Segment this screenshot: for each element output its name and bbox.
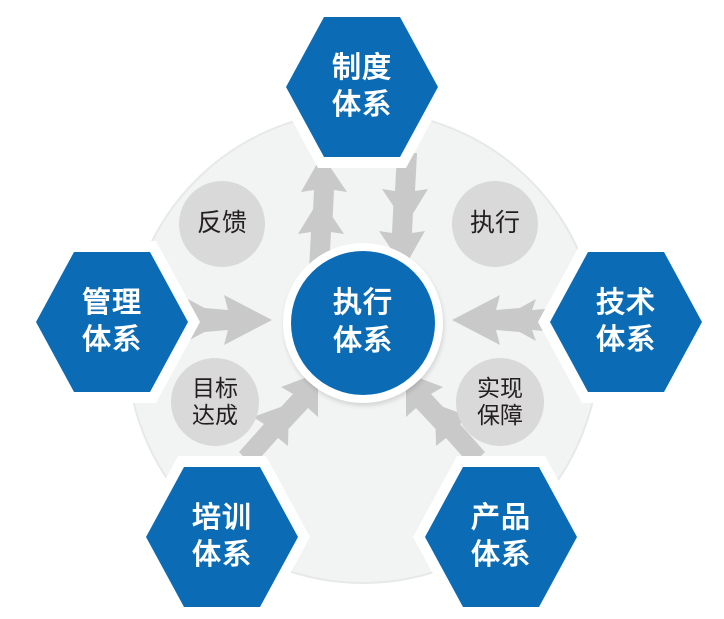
hexagon-right-label-line-2: 体系	[596, 322, 656, 359]
hexagon-left-label-line-1: 管理	[82, 285, 142, 322]
gray-circle-implementation-line-2: 保障	[477, 402, 523, 429]
hexagon-bottom-right-label-line-2: 体系	[471, 537, 531, 574]
hexagon-bottom-left-label-line-2: 体系	[192, 537, 252, 574]
hexagon-right[interactable]: 技术 体系	[538, 241, 714, 403]
hexagon-bottom-left[interactable]: 培训 体系	[134, 456, 310, 618]
gray-circle-feedback-line-1: 反馈	[197, 209, 247, 239]
center-node-body: 执行 体系	[291, 251, 435, 395]
hexagon-left-label-line-2: 体系	[82, 322, 142, 359]
hexagon-top-label-line-1: 制度	[332, 50, 392, 87]
hexagon-top[interactable]: 制度 体系	[274, 6, 450, 168]
hexagon-top-label-line-2: 体系	[332, 87, 392, 124]
hexagon-bottom-left-label-line-1: 培训	[192, 500, 252, 537]
gray-circle-goal-achieved-line-2: 达成	[192, 402, 238, 429]
center-node-label-line-1: 执行	[333, 285, 393, 323]
center-node[interactable]: 执行 体系	[283, 243, 443, 403]
hexagon-bottom-right-label-line-1: 产品	[471, 500, 531, 537]
gray-circle-implementation[interactable]: 实现 保障	[456, 358, 544, 446]
hexagon-right-label-line-1: 技术	[596, 285, 656, 322]
center-node-label-line-2: 体系	[333, 323, 393, 361]
gray-circle-execution-line-1: 执行	[470, 209, 520, 239]
hexagon-bottom-right[interactable]: 产品 体系	[413, 456, 589, 618]
gray-circle-execution[interactable]: 执行	[452, 181, 538, 267]
gray-circle-implementation-line-1: 实现	[477, 375, 523, 402]
hexagon-left[interactable]: 管理 体系	[24, 241, 200, 403]
diagram-canvas: 反馈 执行 目标 达成 实现 保障 制度 体系 技术 体系 产品 体系	[0, 0, 724, 619]
